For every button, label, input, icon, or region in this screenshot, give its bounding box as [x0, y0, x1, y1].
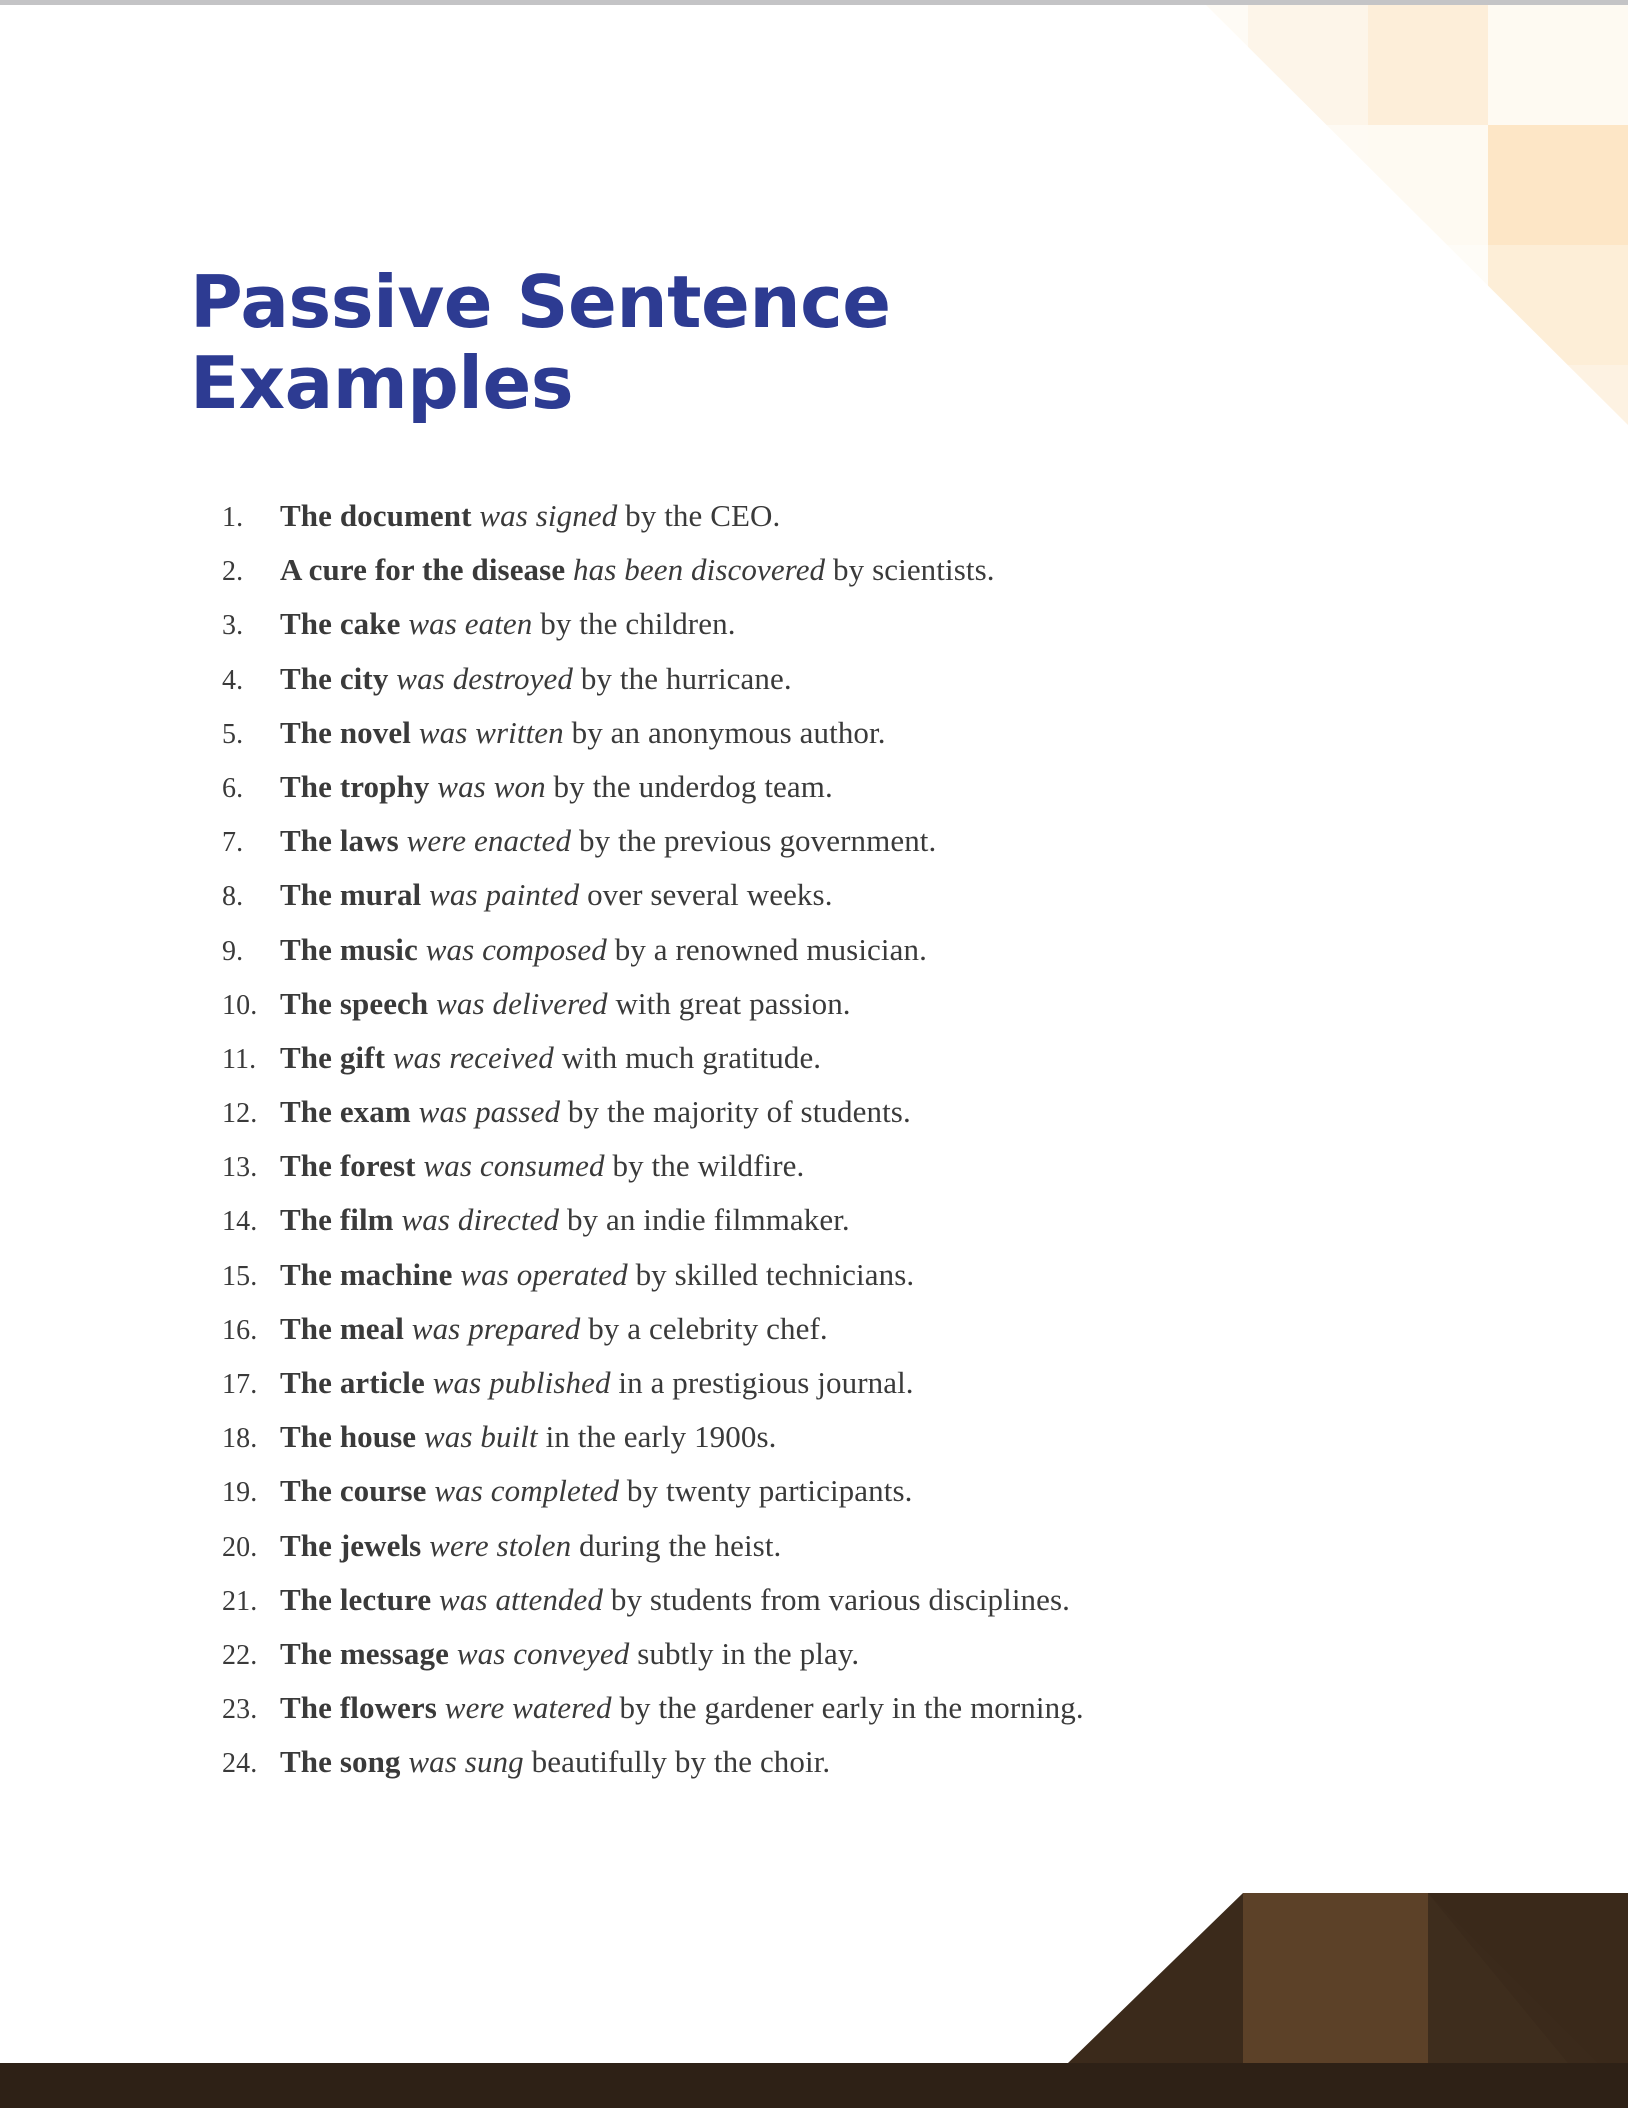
- sentence-remainder: by the gardener early in the morning.: [619, 1690, 1083, 1725]
- passive-sentence-list: 1.The document was signed by the CEO.2.A…: [222, 500, 1382, 1801]
- list-item: 9.The music was composed by a renowned m…: [222, 934, 1382, 966]
- list-item-number: 3.: [222, 612, 280, 640]
- sentence-subject: The exam: [280, 1094, 411, 1129]
- list-item-text: The mural was painted over several weeks…: [280, 879, 1382, 910]
- sentence-subject: The jewels: [280, 1528, 421, 1563]
- top-right-checker-ornament: [1128, 5, 1628, 425]
- list-item-text: The cake was eaten by the children.: [280, 608, 1382, 639]
- list-item-number: 13.: [222, 1154, 280, 1182]
- sentence-remainder: during the heist.: [579, 1528, 781, 1563]
- list-item: 16.The meal was prepared by a celebrity …: [222, 1313, 1382, 1345]
- list-item-text: The film was directed by an indie filmma…: [280, 1204, 1382, 1235]
- list-item-text: The song was sung beautifully by the cho…: [280, 1746, 1382, 1777]
- list-item-number: 22.: [222, 1642, 280, 1670]
- sentence-passive-verb: was published: [433, 1365, 611, 1400]
- sentence-passive-verb: was built: [424, 1419, 538, 1454]
- sentence-subject: The laws: [280, 823, 399, 858]
- list-item-text: A cure for the disease has been discover…: [280, 554, 1382, 585]
- sentence-subject: The message: [280, 1636, 449, 1671]
- sentence-passive-verb: was conveyed: [457, 1636, 630, 1671]
- sentence-passive-verb: was operated: [460, 1257, 627, 1292]
- sentence-subject: The cake: [280, 606, 401, 641]
- document-page: Passive Sentence Examples 1.The document…: [0, 0, 1628, 2108]
- list-item: 24.The song was sung beautifully by the …: [222, 1746, 1382, 1778]
- top-rule-divider: [0, 0, 1628, 5]
- list-item-text: The lecture was attended by students fro…: [280, 1584, 1382, 1615]
- list-item-text: The machine was operated by skilled tech…: [280, 1259, 1382, 1290]
- list-item: 4.The city was destroyed by the hurrican…: [222, 663, 1382, 695]
- sentence-remainder: over several weeks.: [587, 877, 832, 912]
- sentence-remainder: by a celebrity chef.: [588, 1311, 828, 1346]
- list-item-number: 15.: [222, 1263, 280, 1291]
- list-item: 15.The machine was operated by skilled t…: [222, 1259, 1382, 1291]
- sentence-subject: The document: [280, 498, 472, 533]
- sentence-remainder: by the CEO.: [625, 498, 780, 533]
- sentence-subject: The novel: [280, 715, 411, 750]
- list-item: 1.The document was signed by the CEO.: [222, 500, 1382, 532]
- footer-bar: [0, 2063, 1628, 2108]
- sentence-subject: The forest: [280, 1148, 416, 1183]
- sentence-passive-verb: was won: [437, 769, 545, 804]
- list-item-number: 8.: [222, 883, 280, 911]
- sentence-subject: The film: [280, 1202, 394, 1237]
- sentence-remainder: by an indie filmmaker.: [567, 1202, 850, 1237]
- sentence-subject: The lecture: [280, 1582, 431, 1617]
- list-item: 10.The speech was delivered with great p…: [222, 988, 1382, 1020]
- sentence-subject: The flowers: [280, 1690, 437, 1725]
- sentence-passive-verb: was composed: [426, 932, 607, 967]
- sentence-remainder: by the previous government.: [579, 823, 936, 858]
- sentence-remainder: beautifully by the choir.: [532, 1744, 831, 1779]
- list-item: 17.The article was published in a presti…: [222, 1367, 1382, 1399]
- sentence-subject: The machine: [280, 1257, 452, 1292]
- sentence-subject: The house: [280, 1419, 416, 1454]
- sentence-passive-verb: was passed: [419, 1094, 560, 1129]
- list-item-number: 19.: [222, 1479, 280, 1507]
- list-item: 21.The lecture was attended by students …: [222, 1584, 1382, 1616]
- list-item: 11.The gift was received with much grati…: [222, 1042, 1382, 1074]
- list-item-number: 10.: [222, 992, 280, 1020]
- sentence-remainder: by the majority of students.: [568, 1094, 911, 1129]
- list-item-number: 23.: [222, 1696, 280, 1724]
- list-item-number: 18.: [222, 1425, 280, 1453]
- list-item-text: The music was composed by a renowned mus…: [280, 934, 1382, 965]
- page-title-line-2: Examples: [190, 341, 573, 425]
- list-item-number: 16.: [222, 1317, 280, 1345]
- sentence-subject: The course: [280, 1473, 427, 1508]
- list-item-text: The house was built in the early 1900s.: [280, 1421, 1382, 1452]
- sentence-passive-verb: has been discovered: [573, 552, 825, 587]
- list-item-number: 5.: [222, 721, 280, 749]
- list-item-number: 9.: [222, 938, 280, 966]
- sentence-subject: The speech: [280, 986, 428, 1021]
- sentence-passive-verb: was delivered: [436, 986, 607, 1021]
- list-item-text: The course was completed by twenty parti…: [280, 1475, 1382, 1506]
- list-item-number: 4.: [222, 667, 280, 695]
- page-title-line-1: Passive Sentence: [190, 260, 891, 344]
- sentence-passive-verb: was completed: [434, 1473, 619, 1508]
- list-item: 19.The course was completed by twenty pa…: [222, 1475, 1382, 1507]
- list-item: 23.The flowers were watered by the garde…: [222, 1692, 1382, 1724]
- list-item-number: 7.: [222, 829, 280, 857]
- sentence-remainder: by the hurricane.: [581, 661, 792, 696]
- list-item-number: 14.: [222, 1208, 280, 1236]
- sentence-remainder: by the wildfire.: [613, 1148, 805, 1183]
- sentence-remainder: by twenty participants.: [627, 1473, 913, 1508]
- sentence-subject: The song: [280, 1744, 401, 1779]
- list-item: 6.The trophy was won by the underdog tea…: [222, 771, 1382, 803]
- sentence-passive-verb: was written: [419, 715, 564, 750]
- list-item-number: 17.: [222, 1371, 280, 1399]
- list-item-text: The message was conveyed subtly in the p…: [280, 1638, 1382, 1669]
- sentence-passive-verb: were enacted: [407, 823, 571, 858]
- sentence-remainder: with great passion.: [615, 986, 850, 1021]
- sentence-subject: The trophy: [280, 769, 429, 804]
- list-item-number: 1.: [222, 504, 280, 532]
- list-item-text: The speech was delivered with great pass…: [280, 988, 1382, 1019]
- sentence-passive-verb: was directed: [401, 1202, 559, 1237]
- list-item-number: 24.: [222, 1750, 280, 1778]
- list-item-number: 20.: [222, 1534, 280, 1562]
- sentence-remainder: by the children.: [540, 606, 735, 641]
- sentence-remainder: in a prestigious journal.: [618, 1365, 913, 1400]
- sentence-passive-verb: was consumed: [423, 1148, 604, 1183]
- list-item-text: The trophy was won by the underdog team.: [280, 771, 1382, 802]
- list-item-number: 11.: [222, 1046, 280, 1074]
- list-item-text: The novel was written by an anonymous au…: [280, 717, 1382, 748]
- list-item-text: The flowers were watered by the gardener…: [280, 1692, 1382, 1723]
- list-item: 14.The film was directed by an indie fil…: [222, 1204, 1382, 1236]
- list-item: 5.The novel was written by an anonymous …: [222, 717, 1382, 749]
- sentence-subject: The music: [280, 932, 418, 967]
- list-item: 3.The cake was eaten by the children.: [222, 608, 1382, 640]
- sentence-remainder: by scientists.: [833, 552, 995, 587]
- list-item-text: The meal was prepared by a celebrity che…: [280, 1313, 1382, 1344]
- list-item: 12.The exam was passed by the majority o…: [222, 1096, 1382, 1128]
- sentence-passive-verb: was prepared: [412, 1311, 581, 1346]
- list-item-text: The forest was consumed by the wildfire.: [280, 1150, 1382, 1181]
- sentence-remainder: subtly in the play.: [637, 1636, 859, 1671]
- sentence-subject: The article: [280, 1365, 425, 1400]
- list-item-number: 2.: [222, 558, 280, 586]
- list-item: 13.The forest was consumed by the wildfi…: [222, 1150, 1382, 1182]
- sentence-passive-verb: was attended: [439, 1582, 603, 1617]
- list-item: 22.The message was conveyed subtly in th…: [222, 1638, 1382, 1670]
- sentence-subject: A cure for the disease: [280, 552, 565, 587]
- sentence-remainder: by students from various disciplines.: [611, 1582, 1070, 1617]
- list-item: 8.The mural was painted over several wee…: [222, 879, 1382, 911]
- sentence-passive-verb: was eaten: [408, 606, 532, 641]
- sentence-passive-verb: were watered: [445, 1690, 612, 1725]
- sentence-passive-verb: was destroyed: [396, 661, 573, 696]
- list-item-number: 6.: [222, 775, 280, 803]
- sentence-subject: The city: [280, 661, 388, 696]
- page-title: Passive Sentence Examples: [190, 262, 1030, 423]
- sentence-remainder: by a renowned musician.: [615, 932, 927, 967]
- list-item-number: 12.: [222, 1100, 280, 1128]
- sentence-passive-verb: were stolen: [429, 1528, 571, 1563]
- sentence-passive-verb: was sung: [408, 1744, 523, 1779]
- list-item-text: The jewels were stolen during the heist.: [280, 1530, 1382, 1561]
- sentence-remainder: in the early 1900s.: [546, 1419, 777, 1454]
- list-item-text: The article was published in a prestigio…: [280, 1367, 1382, 1398]
- list-item-text: The laws were enacted by the previous go…: [280, 825, 1382, 856]
- list-item-text: The gift was received with much gratitud…: [280, 1042, 1382, 1073]
- sentence-subject: The meal: [280, 1311, 404, 1346]
- sentence-remainder: by skilled technicians.: [636, 1257, 915, 1292]
- list-item: 2.A cure for the disease has been discov…: [222, 554, 1382, 586]
- sentence-subject: The mural: [280, 877, 421, 912]
- sentence-subject: The gift: [280, 1040, 385, 1075]
- list-item-number: 21.: [222, 1588, 280, 1616]
- list-item: 7.The laws were enacted by the previous …: [222, 825, 1382, 857]
- sentence-remainder: by the underdog team.: [554, 769, 833, 804]
- sentence-remainder: with much gratitude.: [562, 1040, 821, 1075]
- sentence-passive-verb: was painted: [429, 877, 579, 912]
- list-item-text: The exam was passed by the majority of s…: [280, 1096, 1382, 1127]
- sentence-remainder: by an anonymous author.: [572, 715, 886, 750]
- list-item: 20.The jewels were stolen during the hei…: [222, 1530, 1382, 1562]
- sentence-passive-verb: was received: [393, 1040, 554, 1075]
- list-item-text: The city was destroyed by the hurricane.: [280, 663, 1382, 694]
- sentence-passive-verb: was signed: [479, 498, 617, 533]
- list-item: 18.The house was built in the early 1900…: [222, 1421, 1382, 1453]
- list-item-text: The document was signed by the CEO.: [280, 500, 1382, 531]
